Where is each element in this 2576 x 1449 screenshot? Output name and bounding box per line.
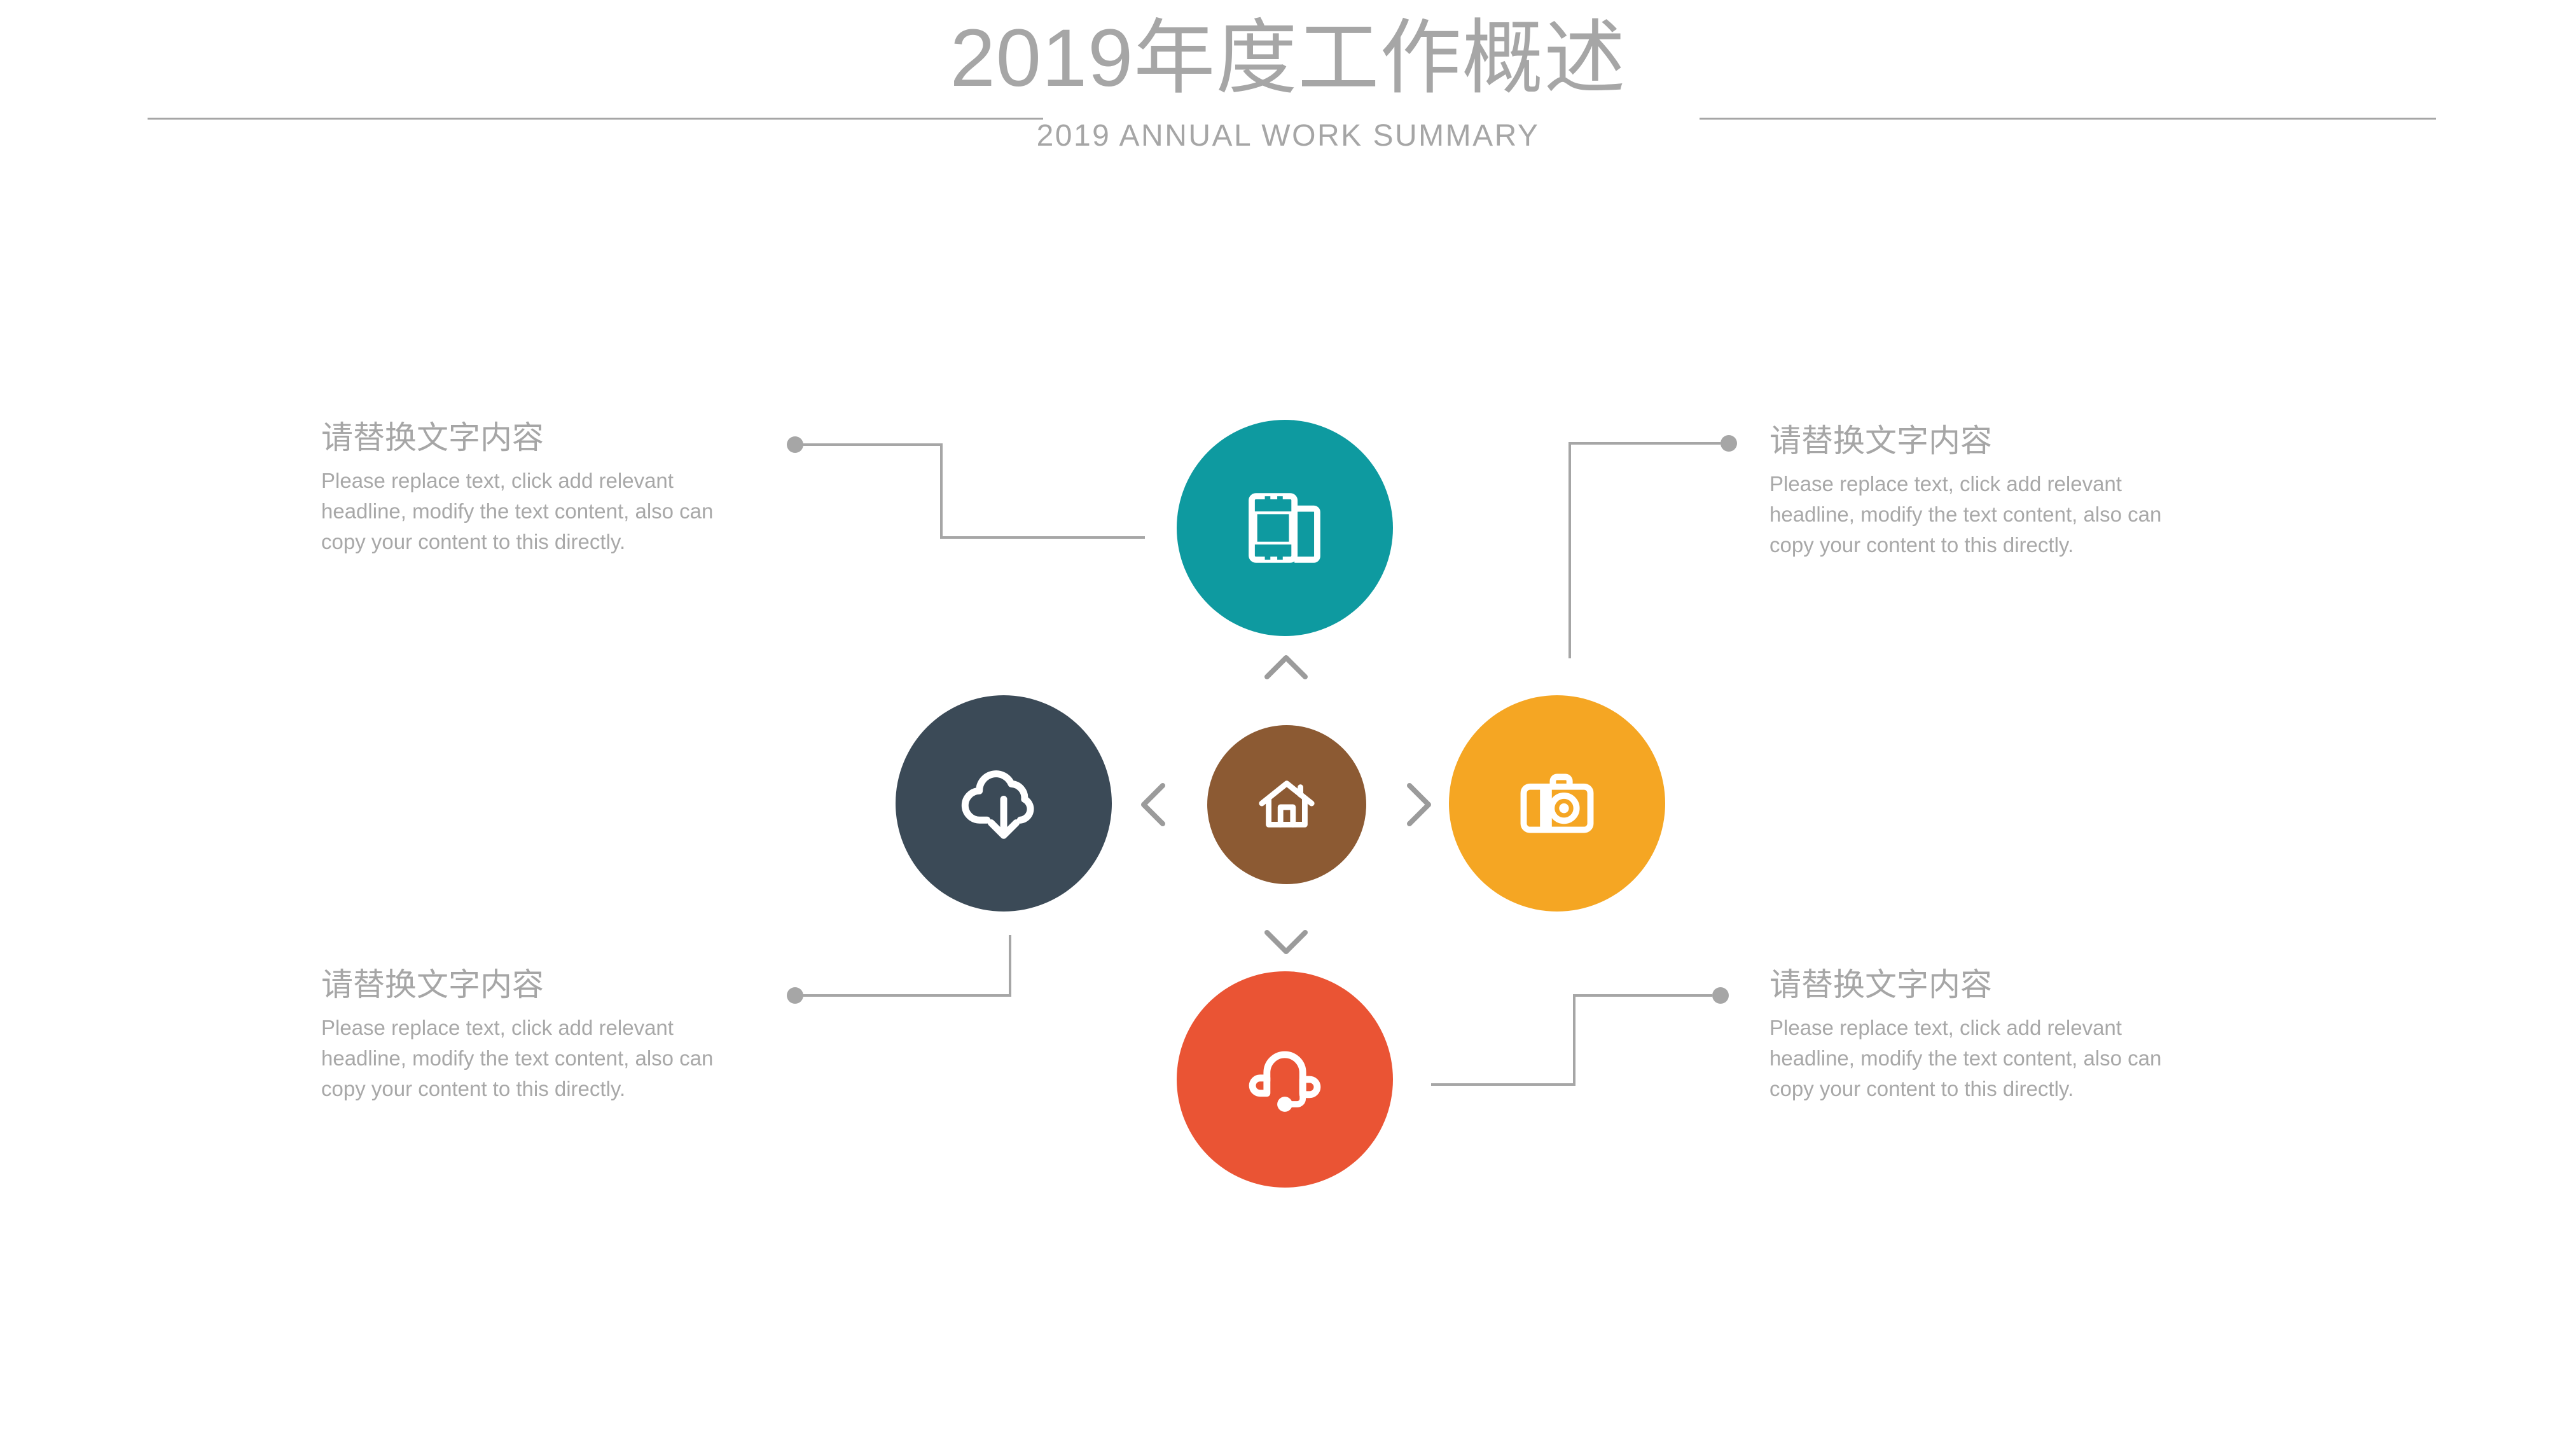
- connector-dot-top-right: [1721, 435, 1737, 452]
- node-left[interactable]: [896, 695, 1112, 912]
- text-block-heading: 请替换文字内容: [1769, 967, 2208, 1004]
- text-block-top-right: 请替换文字内容 Please replace text, click add r…: [1769, 423, 2208, 560]
- text-block-top-left: 请替换文字内容 Please replace text, click add r…: [321, 420, 760, 557]
- connector-dot-top-left: [787, 436, 803, 453]
- node-center[interactable]: [1207, 725, 1366, 884]
- chevron-up-icon: [1267, 658, 1305, 677]
- film-media-icon: [1243, 487, 1326, 569]
- text-block-heading: 请替换文字内容: [1769, 423, 2208, 460]
- infographic-diagram: 请替换文字内容 Please replace text, click add r…: [0, 0, 2576, 1449]
- headset-support-icon: [1243, 1038, 1326, 1121]
- home-icon: [1256, 773, 1318, 836]
- cloud-download-icon: [959, 759, 1048, 848]
- connector-top-left: [787, 436, 1145, 537]
- text-block-body: Please replace text, click add relevant …: [1769, 1013, 2208, 1105]
- node-right[interactable]: [1449, 695, 1665, 912]
- camera-icon: [1513, 759, 1602, 848]
- text-block-heading: 请替换文字内容: [321, 967, 760, 1004]
- connector-dot-bottom-right: [1712, 987, 1729, 1004]
- connector-bottom-right: [1431, 987, 1729, 1085]
- text-block-body: Please replace text, click add relevant …: [321, 1013, 760, 1105]
- chevron-down-icon: [1267, 932, 1305, 952]
- connector-dot-bottom-left: [787, 987, 803, 1004]
- text-block-body: Please replace text, click add relevant …: [321, 466, 760, 558]
- text-block-bottom-left: 请替换文字内容 Please replace text, click add r…: [321, 967, 760, 1104]
- connector-bottom-left: [787, 935, 1010, 1004]
- text-block-body: Please replace text, click add relevant …: [1769, 469, 2208, 561]
- connector-top-right: [1570, 435, 1737, 658]
- chevron-left-icon: [1144, 786, 1163, 824]
- node-bottom[interactable]: [1177, 971, 1393, 1188]
- text-block-heading: 请替换文字内容: [321, 420, 760, 457]
- text-block-bottom-right: 请替换文字内容 Please replace text, click add r…: [1769, 967, 2208, 1104]
- connector-lines: [0, 0, 2576, 1449]
- node-top[interactable]: [1177, 420, 1393, 636]
- chevron-right-icon: [1409, 786, 1429, 824]
